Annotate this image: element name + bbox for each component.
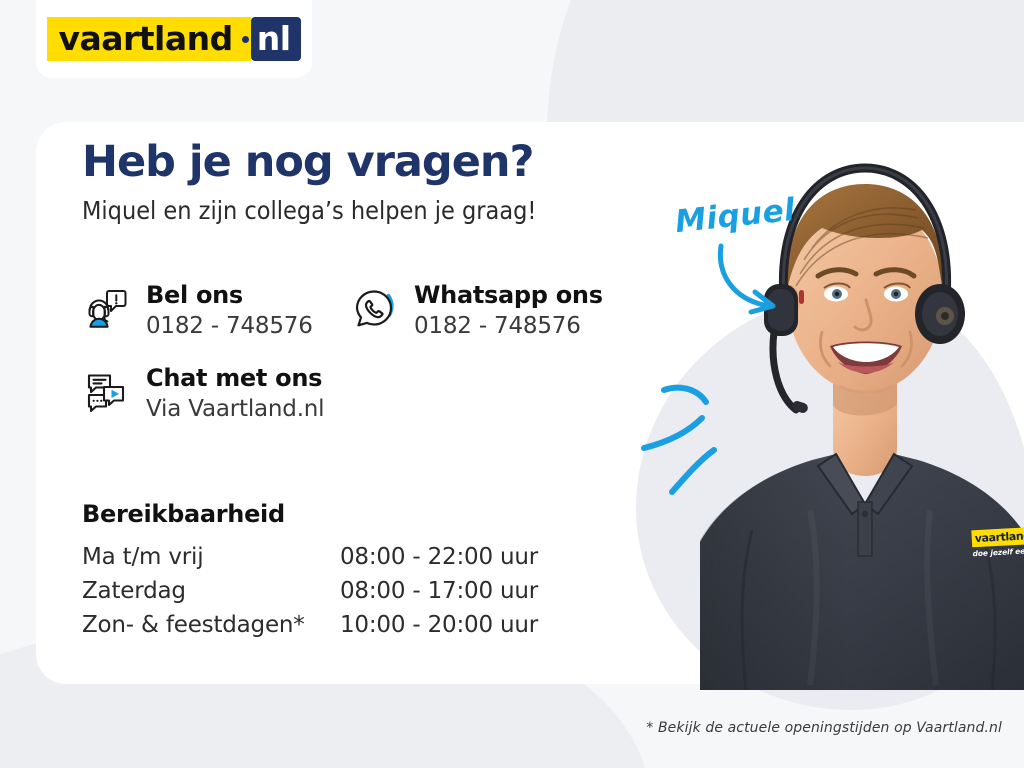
whatsapp-icon [348,283,400,335]
polo-brand-badge: vaartland nl doe jezelf een plezier [971,526,1024,559]
hours-time: 08:00 - 17:00 uur [340,574,552,608]
hours-time: 08:00 - 22:00 uur [340,540,552,574]
contact-banner: vaartland nl Heb je nog vragen? Miquel e… [0,0,1024,768]
opening-hours-table: Ma t/m vrij 08:00 - 22:00 uur Zaterdag 0… [82,540,552,642]
polo-logo: vaartland nl [971,526,1024,548]
table-row: Zon- & feestdagen* 10:00 - 20:00 uur [82,608,552,642]
table-row: Ma t/m vrij 08:00 - 22:00 uur [82,540,552,574]
vaartland-logo[interactable]: vaartland nl [47,17,300,61]
page-title: Heb je nog vragen? [82,140,642,185]
hours-time: 10:00 - 20:00 uur [340,608,552,642]
footnote: * Bekijk de actuele openingstijden op Va… [646,720,1002,736]
contact-detail[interactable]: Via Vaartland.nl [146,395,324,425]
curved-arrow-icon [715,240,795,320]
opening-hours-title: Bereikbaarheid [82,500,582,528]
polo-logo-word: vaartland [971,527,1024,547]
contact-title: Bel ons [146,282,313,309]
contact-title: Chat met ons [146,365,324,392]
brand-logo-plate[interactable]: vaartland nl [36,0,312,78]
table-row: Zaterdag 08:00 - 17:00 uur [82,574,552,608]
employee-photo-area: vaartland nl doe jezelf een plezier Miqu… [600,110,1024,690]
hero-text-block: Heb je nog vragen? Miquel en zijn colleg… [82,140,642,226]
contact-row-secondary: Chat met ons Via Vaartland.nl [80,364,660,425]
logo-tld: nl [251,17,301,61]
hours-day: Zaterdag [82,574,340,608]
contact-detail[interactable]: 0182 - 748576 [146,312,313,342]
opening-hours: Bereikbaarheid Ma t/m vrij 08:00 - 22:00… [82,500,582,642]
contact-item-chat[interactable]: Chat met ons Via Vaartland.nl [80,364,380,425]
contact-row-primary: Bel ons 0182 - 748576 Whatsapp ons 018 [80,281,660,342]
contact-item-call[interactable]: Bel ons 0182 - 748576 [80,281,348,342]
page-subtitle: Miquel en zijn collega’s helpen je graag… [82,197,642,226]
contact-options: Bel ons 0182 - 748576 Whatsapp ons 018 [80,281,660,425]
contact-item-whatsapp[interactable]: Whatsapp ons 0182 - 748576 [348,281,638,342]
headset-person-icon [80,283,132,335]
contact-detail[interactable]: 0182 - 748576 [414,312,603,342]
chat-bubbles-icon [80,366,132,418]
contact-title: Whatsapp ons [414,282,603,309]
logo-word: vaartland [47,17,241,61]
dot-icon [242,17,251,61]
hours-day: Ma t/m vrij [82,540,340,574]
accent-dashes-icon [642,360,762,510]
hours-day: Zon- & feestdagen* [82,608,340,642]
